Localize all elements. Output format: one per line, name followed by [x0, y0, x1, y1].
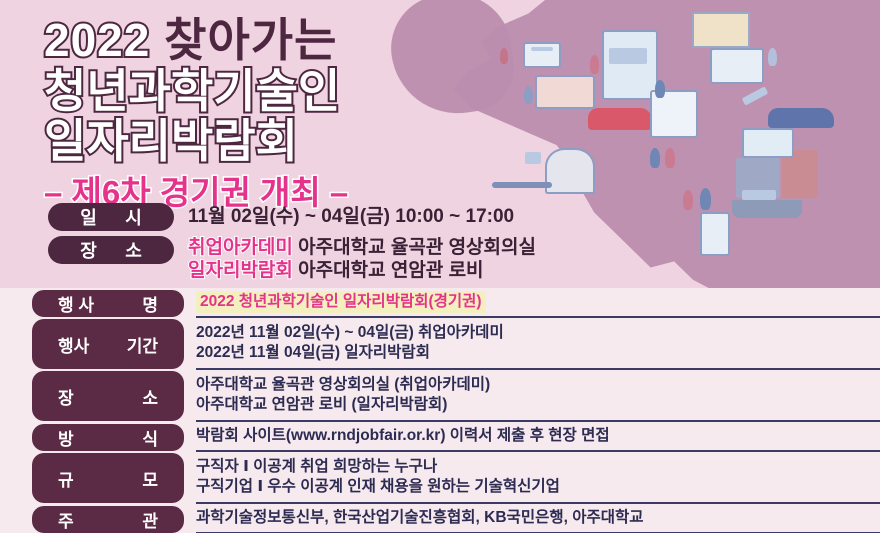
- illus-person-6: [650, 148, 660, 168]
- row-label-scale-b: 모: [142, 466, 158, 491]
- headline-line-1: 2022 찾아가는: [44, 14, 348, 66]
- row-value-line: 2022년 11월 02일(수) ~ 04일(금) 취업아카데미: [196, 323, 866, 343]
- row-label-host: 주 관: [32, 506, 184, 533]
- illus-gauge-panel: [742, 128, 794, 158]
- row-label-venue-b: 소: [142, 384, 158, 409]
- illus-monitor-doctor: [692, 12, 750, 48]
- table-row: 행 사 명 2022 청년과학기술인 일자리박람회(경기권): [0, 288, 880, 318]
- row-label-venue: 장 소: [32, 371, 184, 421]
- row-value-line: 아주대학교 연암관 로비 (일자리박람회): [196, 395, 866, 415]
- row-label-event-period-b: 기간: [127, 332, 158, 357]
- poster-root: 2022 찾아가는 청년과학기술인 일자리박람회 – 제6차 경기권 개최 – …: [0, 0, 880, 533]
- detail-table: 행 사 명 2022 청년과학기술인 일자리박람회(경기권) 행사 기간 202…: [0, 288, 880, 533]
- row-value-line: 구직기업 Ⅰ 우수 이공계 인재 채용을 원하는 기술혁신기업: [196, 477, 866, 497]
- table-row: 행사 기간 2022년 11월 02일(수) ~ 04일(금) 취업아카데미 2…: [0, 318, 880, 370]
- illus-cargo-ship: [732, 200, 802, 218]
- illus-screen-2: [531, 47, 553, 51]
- illus-ai-head: [545, 148, 595, 194]
- row-values-venue: 아주대학교 율곡관 영상회의실 (취업아카데미) 아주대학교 연암관 로비 (일…: [196, 370, 880, 422]
- info-row-datetime: 일 시 11월 02일(수) ~ 04일(금) 10:00 ~ 17:00: [48, 203, 536, 231]
- illus-ai-tag: [525, 152, 541, 164]
- row-values-method: 박람회 사이트(www.rndjobfair.or.kr) 이력서 제출 후 현…: [196, 422, 880, 452]
- info-venue-tag-1: 취업아카데미: [188, 237, 293, 258]
- row-label-venue-a: 장: [58, 384, 74, 409]
- headline-block: 2022 찾아가는 청년과학기술인 일자리박람회 – 제6차 경기권 개최 –: [44, 14, 348, 211]
- illus-person-9: [700, 188, 711, 210]
- illus-person-1: [500, 48, 508, 64]
- info-venue-text-1: 아주대학교 율곡관 영상회의실: [298, 237, 536, 258]
- illus-tablet-creative: [535, 75, 595, 109]
- row-value-line: 아주대학교 율곡관 영상회의실 (취업아카데미): [196, 375, 866, 395]
- row-label-scale: 규 모: [32, 453, 184, 503]
- info-value-venue: 취업아카데미 아주대학교 율곡관 영상회의실 일자리박람회 아주대학교 연암관 …: [188, 236, 536, 282]
- illus-person-3: [768, 48, 777, 66]
- headline-line-3: 일자리박람회: [44, 116, 348, 166]
- event-info-block: 일 시 11월 02일(수) ~ 04일(금) 10:00 ~ 17:00 장 …: [48, 203, 536, 287]
- info-venue-line-1: 취업아카데미 아주대학교 율곡관 영상회의실: [188, 236, 536, 259]
- info-label-venue-char2: 소: [125, 237, 142, 263]
- info-label-datetime-char2: 시: [125, 204, 142, 230]
- illus-airplane: [492, 182, 552, 188]
- illus-red-car: [588, 108, 652, 130]
- row-label-event-name-a: 행 사: [58, 291, 94, 316]
- row-label-event-name: 행 사 명: [32, 290, 184, 317]
- row-label-method-a: 방: [58, 425, 74, 450]
- headline-line1-suffix: 찾아가는: [164, 14, 337, 66]
- row-label-host-b: 관: [142, 507, 158, 532]
- row-value-line: 과학기술정보통신부, 한국산업기술진흥협회, KB국민은행, 아주대학교: [196, 508, 866, 528]
- illus-person-7: [665, 148, 675, 168]
- row-value-line: 박람회 사이트(www.rndjobfair.or.kr) 이력서 제출 후 현…: [196, 426, 866, 446]
- info-venue-tag-2: 일자리박람회: [188, 260, 293, 281]
- info-label-venue-char1: 장: [80, 237, 97, 263]
- illus-blue-car: [768, 108, 834, 128]
- illus-person-5: [655, 80, 665, 98]
- illus-person-8: [683, 190, 693, 210]
- illus-atm-panel: [700, 212, 730, 256]
- row-values-scale: 구직자 Ⅰ 이공계 취업 희망하는 누구나 구직기업 Ⅰ 우수 이공계 인재 채…: [196, 452, 880, 504]
- row-values-event-period: 2022년 11월 02일(수) ~ 04일(금) 취업아카데미 2022년 1…: [196, 318, 880, 370]
- illus-kiosk-1: [602, 30, 658, 100]
- row-label-event-period: 행사 기간: [32, 319, 184, 369]
- hero-section: 2022 찾아가는 청년과학기술인 일자리박람회 – 제6차 경기권 개최 – …: [0, 0, 880, 288]
- row-label-method-b: 식: [142, 425, 158, 450]
- info-value-datetime: 11월 02일(수) ~ 04일(금) 10:00 ~ 17:00: [188, 203, 514, 231]
- info-label-datetime-char1: 일: [80, 204, 97, 230]
- table-row: 규 모 구직자 Ⅰ 이공계 취업 희망하는 누구나 구직기업 Ⅰ 우수 이공계 …: [0, 452, 880, 504]
- row-value-line: 2022 청년과학기술인 일자리박람회(경기권): [196, 291, 486, 313]
- illus-laptop-screen-1: [523, 42, 561, 68]
- row-label-event-period-a: 행사: [58, 332, 89, 357]
- info-venue-line-2: 일자리박람회 아주대학교 연암관 로비: [188, 259, 536, 282]
- illus-person-4: [524, 86, 533, 104]
- table-row: 주 관 과학기술정보통신부, 한국산업기술진흥협회, KB국민은행, 아주대학교: [0, 504, 880, 533]
- illus-containers: [742, 190, 776, 200]
- row-label-method: 방 식: [32, 424, 184, 451]
- illus-person-2: [590, 55, 599, 74]
- row-values-host: 과학기술정보통신부, 한국산업기술진흥협회, KB국민은행, 아주대학교: [196, 504, 880, 533]
- headline-line-2: 청년과학기술인: [44, 66, 348, 116]
- table-row: 방 식 박람회 사이트(www.rndjobfair.or.kr) 이력서 제출…: [0, 422, 880, 452]
- info-label-datetime: 일 시: [48, 203, 174, 231]
- row-values-event-name: 2022 청년과학기술인 일자리박람회(경기권): [196, 288, 880, 318]
- illus-window-panel-1: [710, 48, 764, 84]
- headline-year: 2022: [44, 14, 150, 66]
- table-row: 장 소 아주대학교 율곡관 영상회의실 (취업아카데미) 아주대학교 연암관 로…: [0, 370, 880, 422]
- info-label-venue: 장 소: [48, 236, 174, 264]
- row-label-event-name-b: 명: [142, 291, 158, 316]
- row-label-host-a: 주: [58, 507, 74, 532]
- info-row-venue: 장 소 취업아카데미 아주대학교 율곡관 영상회의실 일자리박람회 아주대학교 …: [48, 236, 536, 282]
- info-venue-text-2: 아주대학교 연암관 로비: [298, 260, 483, 281]
- illus-kiosk-screen: [609, 48, 647, 64]
- row-value-line: 2022년 11월 04일(금) 일자리박람회: [196, 343, 866, 363]
- row-value-line: 구직자 Ⅰ 이공계 취업 희망하는 누구나: [196, 457, 866, 477]
- row-label-scale-a: 규: [58, 466, 74, 491]
